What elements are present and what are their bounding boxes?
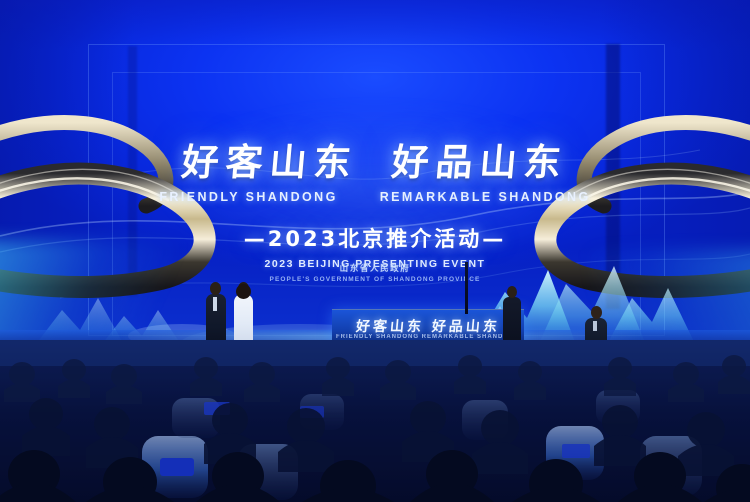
- audience-crowd: [0, 340, 750, 502]
- title-en-right: REMARKABLE SHANDONG: [380, 190, 591, 204]
- title-english-row: FRIENDLY SHANDONG REMARKABLE SHANDONG: [0, 190, 750, 204]
- title-cn-left: 好客山东: [180, 132, 361, 186]
- audience-area: [0, 340, 750, 502]
- event-name-cn: —2023北京推介活动—: [0, 223, 750, 253]
- speaker-at-podium: [502, 286, 522, 348]
- backdrop-title-block: 好客山东 好品山东 FRIENDLY SHANDONG REMARKABLE S…: [0, 132, 750, 270]
- organizer-credit: 山东省人民政府 PEOPLE'S GOVERNMENT OF SHANDONG …: [250, 262, 500, 283]
- host-male: [205, 282, 227, 348]
- microphone-stand: [465, 262, 468, 314]
- title-chinese-row: 好客山东 好品山东: [0, 132, 750, 186]
- organizer-en: PEOPLE'S GOVERNMENT OF SHANDONG PROVINCE: [250, 276, 500, 283]
- event-photo: 好客山东 好品山东 FRIENDLY SHANDONG REMARKABLE S…: [0, 0, 750, 502]
- organizer-cn: 山东省人民政府: [250, 262, 500, 274]
- title-cn-right: 好品山东: [390, 132, 571, 186]
- title-en-left: FRIENDLY SHANDONG: [159, 190, 337, 204]
- host-female: [232, 282, 254, 348]
- podium-text-cn: 好客山东 好品山东: [332, 316, 524, 336]
